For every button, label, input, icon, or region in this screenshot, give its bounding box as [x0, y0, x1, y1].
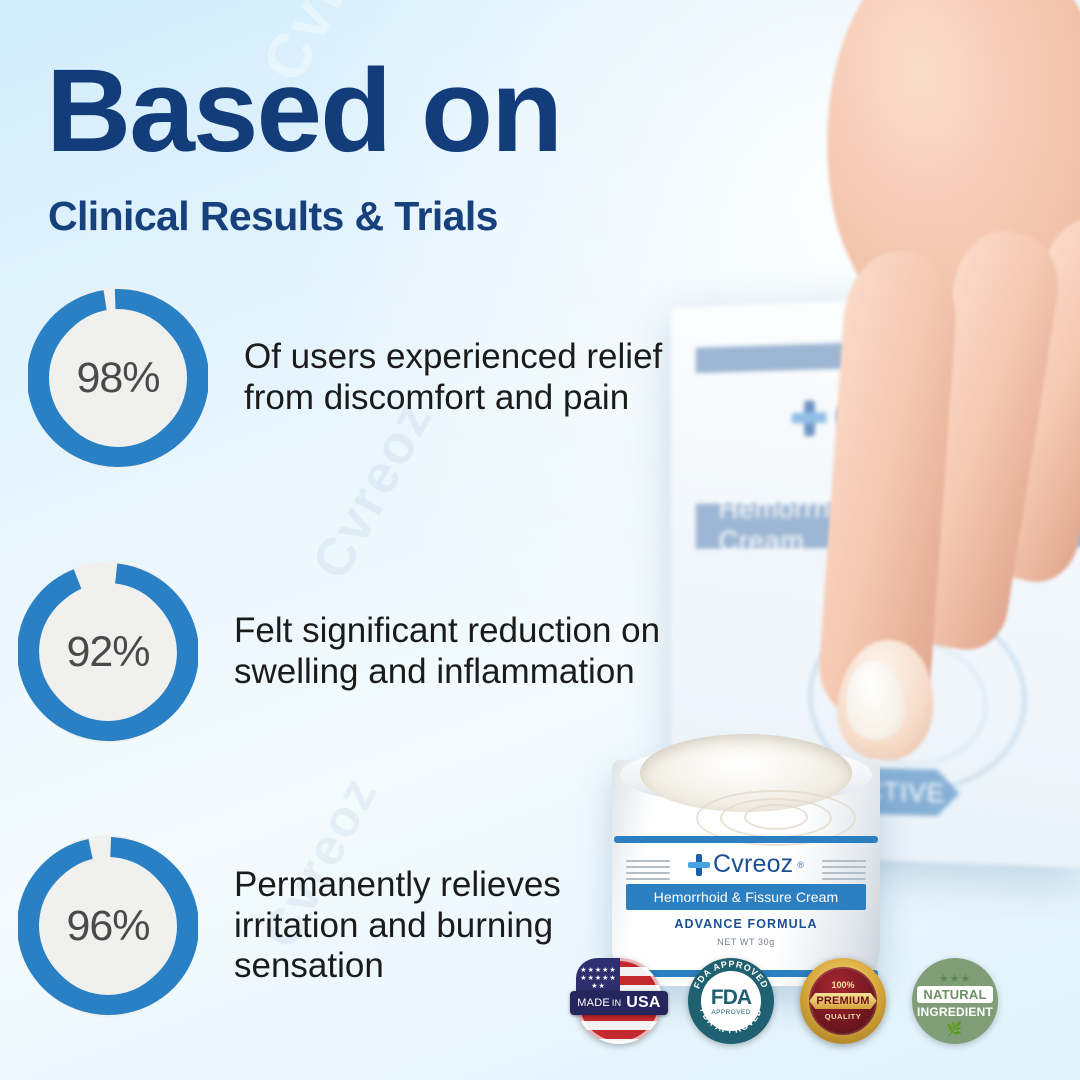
badge-natural-line1: NATURAL: [917, 986, 992, 1003]
stat-row: 98% Of users experienced relief from dis…: [28, 286, 674, 470]
badge-usa-line1: MADE: [577, 997, 610, 1009]
donut-chart-96: 96%: [18, 834, 198, 1018]
stat-value: 96%: [18, 834, 198, 1018]
badge-premium-top: 100%: [831, 981, 854, 990]
badge-fda-center-sub: APPROVED: [711, 1009, 750, 1016]
badge-premium-quality: 100% PREMIUM QUALITY: [800, 958, 886, 1044]
badge-made-in-usa: ★★★★★★★★★★★★ MADE IN USA: [576, 958, 662, 1044]
stat-row: 96% Permanently relieves irritation and …: [18, 834, 664, 1018]
badge-natural-line2: INGREDIENT: [917, 1005, 993, 1019]
badge-usa-line3: USA: [626, 994, 660, 1012]
stat-description: Of users experienced relief from discomf…: [244, 337, 674, 418]
cream-swirl: [744, 804, 808, 830]
badge-premium-bottom: QUALITY: [825, 1012, 861, 1021]
jar-cream-surface: [640, 734, 852, 812]
page-title: Based on: [46, 52, 561, 170]
jar-brand-name: Cvreoz: [713, 850, 793, 879]
badge-premium-ribbon: PREMIUM: [809, 993, 876, 1009]
infographic-canvas: Cvreoz Cvreoz Cvreoz Cvreoz Cvreoz Hemor…: [0, 0, 1080, 1080]
trust-badges: ★★★★★★★★★★★★ MADE IN USA FDA APPROVED FD…: [576, 958, 998, 1044]
badge-natural-ingredient: ★★★ NATURAL INGREDIENT 🌿: [912, 958, 998, 1044]
medical-cross-icon: [790, 398, 829, 439]
stat-value: 98%: [28, 286, 208, 470]
stat-value: 92%: [18, 560, 198, 744]
premium-badge-core: 100% PREMIUM QUALITY: [809, 967, 877, 1035]
made-in-usa-plate: MADE IN USA: [570, 991, 668, 1015]
badge-usa-line2: IN: [612, 998, 621, 1008]
fda-badge-core: FDA APPROVED: [701, 971, 761, 1031]
registered-trademark-icon: ®: [797, 860, 804, 870]
stat-row: 92% Felt significant reduction on swelli…: [18, 560, 664, 744]
stat-description: Felt significant reduction on swelling a…: [234, 611, 664, 692]
medical-cross-icon: [688, 854, 710, 876]
leaf-icon: 🌿: [946, 1021, 963, 1037]
stars-icon: ★★★: [939, 972, 972, 985]
badge-fda-approved: FDA APPROVED FDA APPROVED FDA APPROVED: [688, 958, 774, 1044]
donut-chart-98: 98%: [28, 286, 208, 470]
badge-fda-center: FDA: [711, 987, 751, 1008]
donut-chart-92: 92%: [18, 560, 198, 744]
page-subtitle: Clinical Results & Trials: [48, 193, 498, 240]
